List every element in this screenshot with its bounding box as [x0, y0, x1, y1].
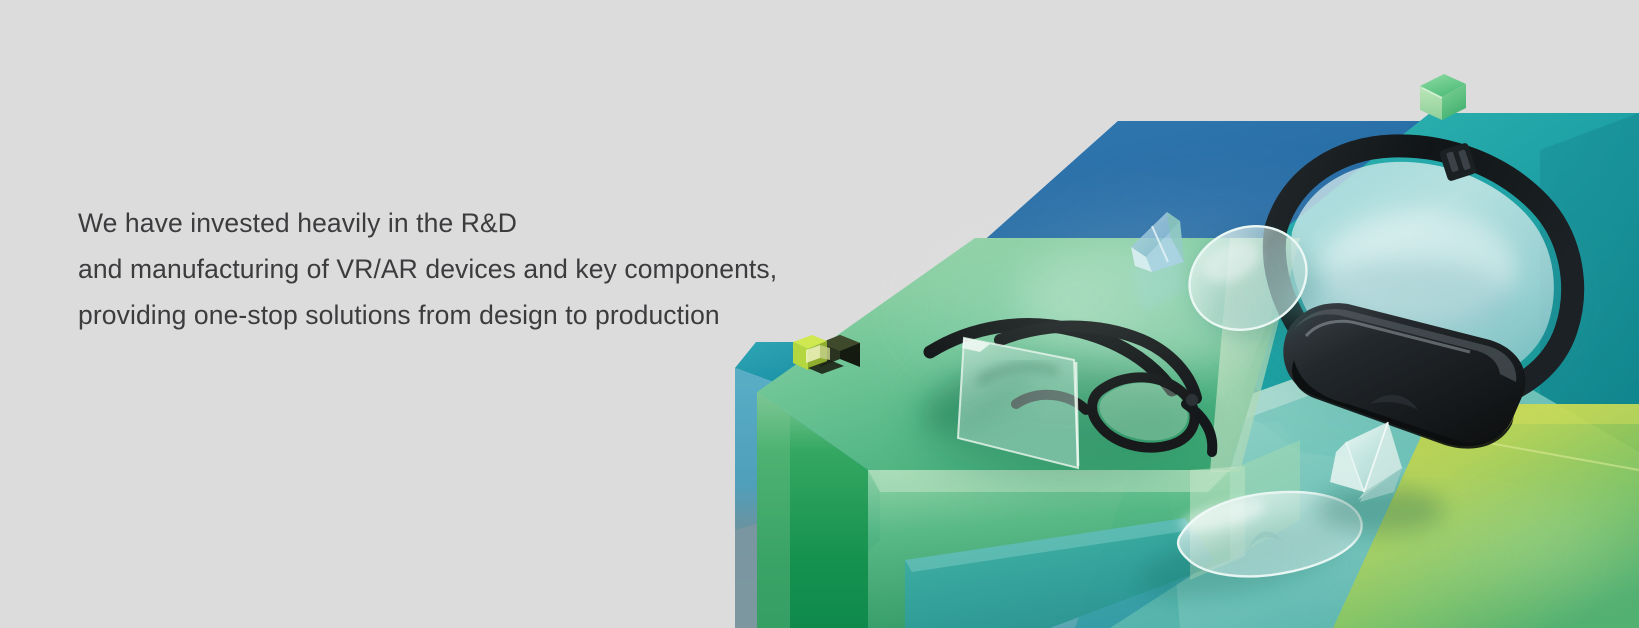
accent-cube-green [1420, 74, 1466, 120]
headset-strap [1274, 146, 1572, 405]
inner-teal-body [905, 518, 1215, 628]
waveguide-panel [958, 338, 1078, 468]
strap-buckle [1439, 142, 1477, 182]
headline-line-1: We have invested heavily in the R&D [78, 200, 777, 246]
vr-ar-hero-banner: We have invested heavily in the R&D and … [0, 0, 1639, 628]
teal-column [735, 342, 880, 628]
headline-copy: We have invested heavily in the R&D and … [78, 200, 777, 338]
teal-headset-plate [1150, 113, 1639, 500]
glasses-temple-right [1186, 404, 1212, 452]
mint-lower-plate [1075, 330, 1639, 628]
optical-bar [1131, 212, 1186, 312]
glass-prism [1316, 422, 1444, 534]
glasses-rim-right [1092, 377, 1195, 447]
yellow-green-slab [1333, 404, 1639, 628]
headline-line-2: and manufacturing of VR/AR devices and k… [78, 246, 777, 292]
glasses-rim-left [1016, 395, 1086, 410]
green-edge-highlights [1190, 440, 1300, 580]
glasses-brow [1000, 327, 1196, 399]
green-block [757, 200, 1320, 628]
headline-line-3: providing one-stop solutions from design… [78, 292, 777, 338]
accent-cube-lime [793, 335, 860, 374]
glasses-temple-left [930, 325, 1172, 390]
visor-lens [1131, 481, 1367, 613]
lighting-overlay [870, 180, 1620, 628]
vr-headset [1215, 142, 1573, 448]
headset-visor [1283, 303, 1525, 446]
ar-glasses [915, 325, 1213, 478]
round-lens [1173, 208, 1323, 348]
blue-slab [960, 121, 1639, 424]
